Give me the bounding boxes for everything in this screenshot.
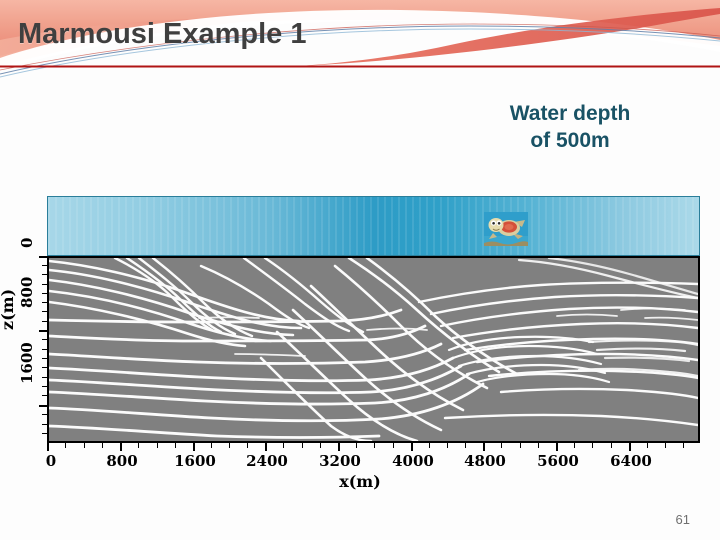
y-tick-label: 1600: [18, 342, 36, 384]
y-tick-minor: [42, 358, 47, 359]
y-tick-minor: [42, 395, 47, 396]
x-tick-label: 5600: [537, 452, 579, 470]
water-sheen-overlay: [48, 197, 699, 255]
x-tick-minor: [574, 443, 575, 448]
y-tick-minor: [42, 265, 47, 266]
x-tick-label: 800: [106, 452, 137, 470]
x-tick-minor: [647, 443, 648, 448]
x-tick-major: [483, 443, 485, 451]
x-tick-minor: [302, 443, 303, 448]
x-tick-minor: [138, 443, 139, 448]
x-tick-major: [411, 443, 413, 451]
x-tick-label: 4800: [464, 452, 506, 470]
y-tick-minor: [42, 321, 47, 322]
y-tick-minor: [42, 377, 47, 378]
y-axis-label: z(m): [0, 289, 17, 330]
sea-turtle-icon: [484, 212, 528, 246]
water-depth-callout: Water depth of 500m: [455, 101, 685, 155]
x-tick-minor: [157, 443, 158, 448]
x-tick-minor: [429, 443, 430, 448]
x-tick-major: [193, 443, 195, 451]
marmousi-figure: 0 800 1600 2400 3200 4000 4800 5600 6400…: [0, 180, 720, 500]
x-tick-major: [47, 443, 49, 451]
x-tick-major: [556, 443, 558, 451]
x-tick-label: 1600: [174, 452, 216, 470]
x-tick-minor: [538, 443, 539, 448]
x-axis-label: x(m): [0, 472, 720, 491]
y-tick-label: 0: [18, 238, 36, 248]
x-tick-major: [629, 443, 631, 451]
x-tick-label: 4000: [392, 452, 434, 470]
x-tick-minor: [665, 443, 666, 448]
y-tick-minor: [42, 293, 47, 294]
y-tick-minor: [42, 311, 47, 312]
sea-turtle-artwork: [484, 212, 528, 246]
x-tick-label: 2400: [246, 452, 288, 470]
x-tick-major: [265, 443, 267, 451]
x-tick-label: 0: [46, 452, 56, 470]
velocity-model-panel: [47, 256, 700, 443]
x-tick-minor: [175, 443, 176, 448]
x-tick-minor: [465, 443, 466, 448]
y-tick-label: 800: [18, 277, 36, 308]
y-tick-major: [39, 330, 47, 332]
page-number: 61: [676, 512, 690, 527]
y-tick-minor: [42, 433, 47, 434]
x-tick-minor: [84, 443, 85, 448]
page-title: Marmousi Example 1: [18, 18, 307, 51]
x-tick-minor: [283, 443, 284, 448]
callout-line-1: Water depth: [455, 101, 685, 128]
x-tick-minor: [211, 443, 212, 448]
x-tick-minor: [374, 443, 375, 448]
y-tick-minor: [42, 274, 47, 275]
y-tick-minor: [42, 367, 47, 368]
callout-line-2: of 500m: [455, 128, 685, 155]
y-tick-major: [39, 405, 47, 407]
model-reflectors: [49, 258, 698, 441]
x-tick-minor: [229, 443, 230, 448]
x-tick-minor: [102, 443, 103, 448]
x-tick-major: [120, 443, 122, 451]
x-tick-minor: [501, 443, 502, 448]
x-tick-minor: [247, 443, 248, 448]
x-tick-minor: [447, 443, 448, 448]
x-tick-minor: [320, 443, 321, 448]
x-tick-minor: [65, 443, 66, 448]
y-tick-minor: [42, 414, 47, 415]
y-tick-minor: [42, 302, 47, 303]
x-tick-minor: [611, 443, 612, 448]
x-tick-label: 3200: [319, 452, 361, 470]
y-tick-minor: [42, 386, 47, 387]
y-tick-minor: [42, 284, 47, 285]
y-tick-minor: [42, 349, 47, 350]
y-tick-major: [39, 256, 47, 258]
x-tick-minor: [393, 443, 394, 448]
x-tick-minor: [683, 443, 684, 448]
water-layer: [47, 196, 700, 256]
slide-canvas: Marmousi Example 1 Water depth of 500m: [0, 0, 720, 540]
x-tick-minor: [520, 443, 521, 448]
x-tick-label: 6400: [610, 452, 652, 470]
x-tick-minor: [356, 443, 357, 448]
x-tick-minor: [592, 443, 593, 448]
y-tick-minor: [42, 339, 47, 340]
x-tick-major: [338, 443, 340, 451]
y-tick-minor: [42, 424, 47, 425]
